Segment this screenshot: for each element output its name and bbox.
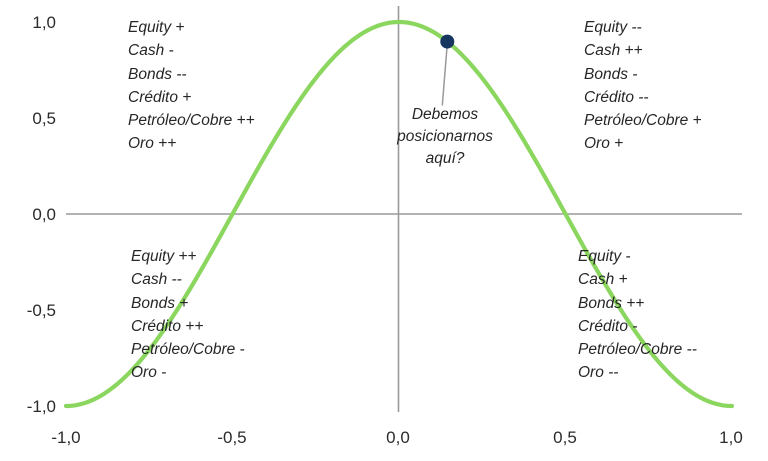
y-tick-label-neg1: -1,0 bbox=[0, 397, 56, 417]
bottom-right-row-bonds: Bonds ++ bbox=[578, 292, 697, 315]
top-right-row-equity: Equity -- bbox=[584, 16, 702, 39]
bottom-left-row-equity: Equity ++ bbox=[131, 245, 245, 268]
current-position-marker[interactable] bbox=[440, 35, 454, 49]
bottom-right-row-petroleo-cobre: Petróleo/Cobre -- bbox=[578, 338, 697, 361]
top-left-row-credito: Crédito + bbox=[128, 86, 255, 109]
bottom-left-quadrant: Equity ++ Cash -- Bonds + Crédito ++ Pet… bbox=[131, 245, 245, 385]
bottom-left-row-credito: Crédito ++ bbox=[131, 315, 245, 338]
annotation-line-3: aquí? bbox=[365, 148, 525, 170]
top-left-row-cash: Cash - bbox=[128, 39, 255, 62]
top-left-row-petroleo-cobre: Petróleo/Cobre ++ bbox=[128, 109, 255, 132]
y-tick-label-0: 0,0 bbox=[0, 205, 56, 225]
annotation-leader-line bbox=[442, 44, 447, 106]
bottom-right-quadrant: Equity - Cash + Bonds ++ Crédito - Petró… bbox=[578, 245, 697, 385]
top-left-row-equity: Equity + bbox=[128, 16, 255, 39]
top-right-row-bonds: Bonds - bbox=[584, 63, 702, 86]
cycle-positioning-chart: 1,0 0,5 0,0 -0,5 -1,0 -1,0 -0,5 0,0 0,5 … bbox=[0, 0, 768, 461]
top-right-row-oro: Oro + bbox=[584, 132, 702, 155]
bottom-right-row-credito: Crédito - bbox=[578, 315, 697, 338]
bottom-right-row-equity: Equity - bbox=[578, 245, 697, 268]
bottom-right-row-cash: Cash + bbox=[578, 268, 697, 291]
y-tick-label-0-5: 0,5 bbox=[0, 109, 56, 129]
bottom-left-row-bonds: Bonds + bbox=[131, 292, 245, 315]
x-tick-label-neg0-5: -0,5 bbox=[192, 428, 272, 448]
y-tick-label-neg0-5: -0,5 bbox=[0, 301, 56, 321]
top-right-quadrant: Equity -- Cash ++ Bonds - Crédito -- Pet… bbox=[584, 16, 702, 156]
top-left-row-bonds: Bonds -- bbox=[128, 63, 255, 86]
annotation-line-2: posicionarnos bbox=[365, 126, 525, 148]
top-left-row-oro: Oro ++ bbox=[128, 132, 255, 155]
bottom-left-row-oro: Oro - bbox=[131, 361, 245, 384]
bottom-left-row-cash: Cash -- bbox=[131, 268, 245, 291]
bottom-right-row-oro: Oro -- bbox=[578, 361, 697, 384]
x-tick-label-0-5: 0,5 bbox=[525, 428, 605, 448]
top-right-row-credito: Crédito -- bbox=[584, 86, 702, 109]
y-tick-label-1: 1,0 bbox=[0, 13, 56, 33]
position-question-annotation: Debemos posicionarnos aquí? bbox=[365, 104, 525, 170]
annotation-line-1: Debemos bbox=[365, 104, 525, 126]
x-tick-label-neg1: -1,0 bbox=[26, 428, 106, 448]
bottom-left-row-petroleo-cobre: Petróleo/Cobre - bbox=[131, 338, 245, 361]
x-tick-label-1: 1,0 bbox=[691, 428, 768, 448]
top-right-row-cash: Cash ++ bbox=[584, 39, 702, 62]
x-tick-label-0: 0,0 bbox=[358, 428, 438, 448]
top-left-quadrant: Equity + Cash - Bonds -- Crédito + Petró… bbox=[128, 16, 255, 156]
top-right-row-petroleo-cobre: Petróleo/Cobre + bbox=[584, 109, 702, 132]
